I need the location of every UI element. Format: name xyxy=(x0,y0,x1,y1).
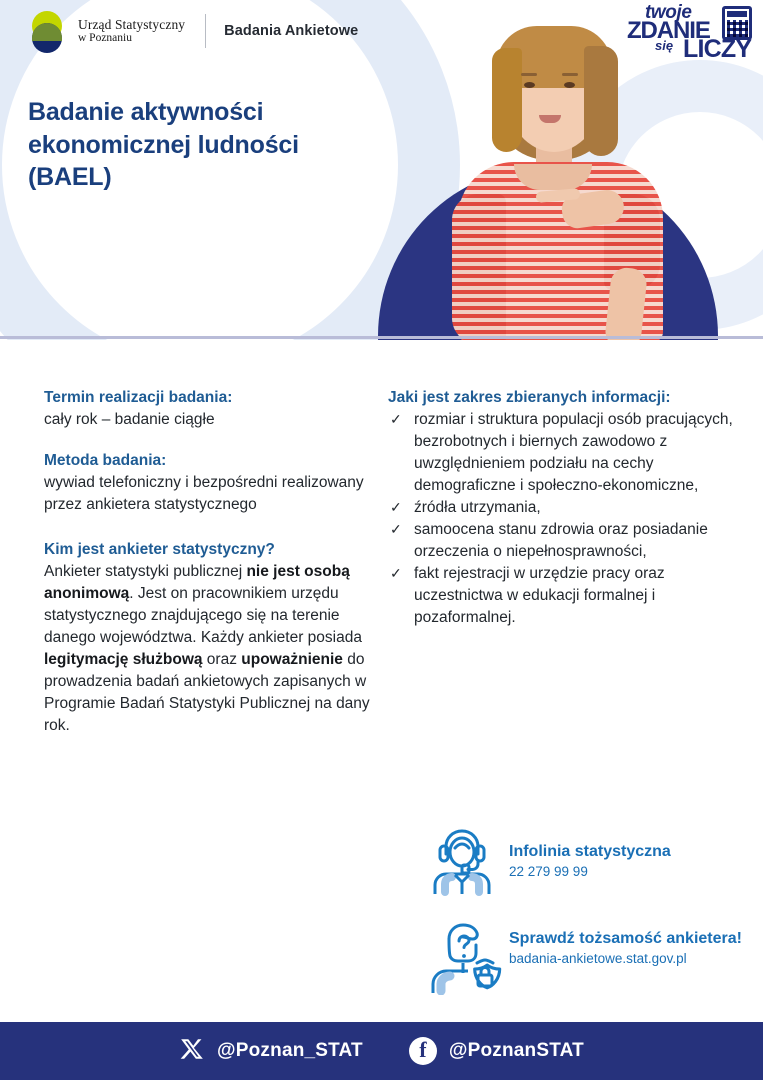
section-termin-heading: Termin realizacji badania: xyxy=(44,388,370,408)
section-ankieter-body: Ankieter statystyki publicznej nie jest … xyxy=(44,561,370,737)
facebook-icon: f xyxy=(409,1037,437,1065)
section-termin-body: cały rok – badanie ciągłe xyxy=(44,409,370,431)
contact-infolinia-title: Infolinia statystyczna xyxy=(509,842,671,862)
contact-verify: Sprawdź tożsamość ankietera! badania-ank… xyxy=(425,917,763,1000)
office-name-line1: Urząd Statystyczny xyxy=(78,17,185,33)
x-twitter-icon xyxy=(179,1036,205,1067)
section-zakres-heading: Jaki jest zakres zbieranych informacji: xyxy=(388,388,749,408)
contact-verify-title: Sprawdź tożsamość ankietera! xyxy=(509,929,742,949)
scope-list-item: ✓źródła utrzymania, xyxy=(388,497,749,519)
hero-baseline-rule xyxy=(0,336,763,339)
contact-infolinia-text: Infolinia statystyczna 22 279 99 99 xyxy=(509,822,671,879)
campaign-word-sie: się xyxy=(655,38,673,53)
check-icon: ✓ xyxy=(390,520,402,540)
check-icon: ✓ xyxy=(390,498,402,518)
scope-list-item-label: rozmiar i struktura populacji osób pracu… xyxy=(414,411,733,494)
scope-list-item-label: fakt rejestracji w urzędzie pracy oraz u… xyxy=(414,565,665,626)
poster-page: Urząd Statystyczny w Poznaniu Badania An… xyxy=(0,0,763,1080)
office-name-line2: w Poznaniu xyxy=(78,32,185,45)
contact-infolinia: Infolinia statystyczna 22 279 99 99 xyxy=(425,822,763,901)
contact-section: Infolinia statystyczna 22 279 99 99 xyxy=(425,822,763,1016)
identity-verify-shield-icon xyxy=(425,917,509,1000)
scope-list-item: ✓fakt rejestracji w urzędzie pracy oraz … xyxy=(388,563,749,629)
check-icon: ✓ xyxy=(390,410,402,430)
contact-verify-text: Sprawdź tożsamość ankietera! badania-ank… xyxy=(509,917,742,966)
scope-list-item-label: samoocena stanu zdrowia oraz posiadanie … xyxy=(414,521,708,560)
contact-verify-url[interactable]: badania-ankietowe.stat.gov.pl xyxy=(509,951,742,966)
hero-photo-woman-pointing xyxy=(452,18,667,338)
x-handle-label: @Poznan_STAT xyxy=(217,1040,363,1062)
check-icon: ✓ xyxy=(390,564,402,584)
section-ankieter-heading: Kim jest ankieter statystyczny? xyxy=(44,540,370,560)
scope-list-item: ✓rozmiar i struktura populacji osób prac… xyxy=(388,409,749,497)
campaign-logo: twoje ZDANIE się LICZY xyxy=(627,2,755,64)
brand-section-label: Badania Ankietowe xyxy=(224,23,358,39)
section-termin: Termin realizacji badania: cały rok – ba… xyxy=(44,388,370,431)
scope-checklist: ✓rozmiar i struktura populacji osób prac… xyxy=(388,409,749,629)
left-column: Termin realizacji badania: cały rok – ba… xyxy=(0,388,380,1018)
contact-infolinia-phone[interactable]: 22 279 99 99 xyxy=(509,864,671,879)
social-facebook[interactable]: f @PoznanSTAT xyxy=(409,1037,584,1065)
fb-handle-label: @PoznanSTAT xyxy=(449,1040,584,1062)
headset-operator-icon xyxy=(425,822,509,901)
gus-circles-logo xyxy=(28,9,70,53)
section-metoda-heading: Metoda badania: xyxy=(44,451,370,471)
section-metoda: Metoda badania: wywiad telefoniczny i be… xyxy=(44,451,370,516)
page-title: Badanie aktywności ekonomicznej ludności… xyxy=(28,96,358,194)
social-x[interactable]: @Poznan_STAT xyxy=(179,1036,363,1067)
office-name: Urząd Statystyczny w Poznaniu xyxy=(78,17,185,46)
section-metoda-body: wywiad telefoniczny i bezpośredni realiz… xyxy=(44,472,370,516)
brand-divider xyxy=(205,14,206,48)
section-ankieter: Kim jest ankieter statystyczny? Ankieter… xyxy=(44,540,370,737)
scope-list-item-label: źródła utrzymania, xyxy=(414,499,541,516)
footer-social-bar: @Poznan_STAT f @PoznanSTAT xyxy=(0,1022,763,1080)
calculator-icon xyxy=(722,6,752,40)
scope-list-item: ✓samoocena stanu zdrowia oraz posiadanie… xyxy=(388,519,749,563)
